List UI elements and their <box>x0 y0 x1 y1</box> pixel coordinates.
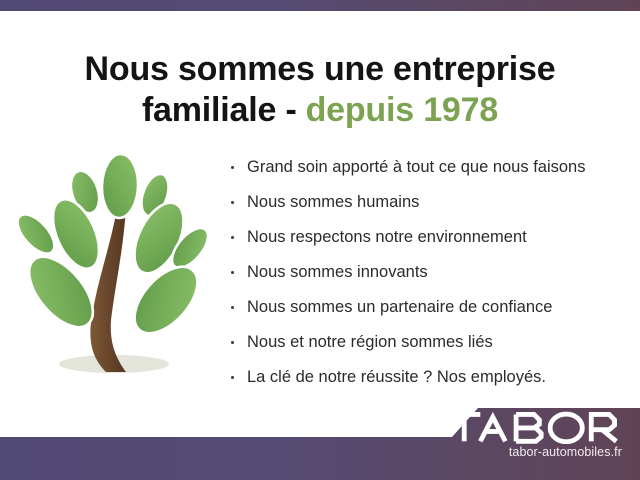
tree-illustration <box>14 152 214 390</box>
list-item: Nous sommes un partenaire de confiance <box>228 290 628 325</box>
headline-line-2-prefix: familiale - <box>142 91 297 129</box>
leaf <box>101 153 139 218</box>
bullet-dot-icon <box>231 341 234 344</box>
leaf <box>123 256 209 345</box>
list-item-label: Nous sommes un partenaire de confiance <box>247 298 552 316</box>
list-item: Nous et notre région sommes liés <box>228 325 628 360</box>
page-title: Nous sommes une entreprise familiale -de… <box>0 49 640 131</box>
list-item-label: Nous sommes innovants <box>247 263 428 281</box>
headline-line-2: familiale -depuis 1978 <box>0 90 640 131</box>
footer-url[interactable]: tabor-automobiles.fr <box>444 445 624 459</box>
list-item: Grand soin apporté à tout ce que nous fa… <box>228 150 628 185</box>
list-item-label: Nous sommes humains <box>247 193 419 211</box>
list-item-label: Grand soin apporté à tout ce que nous fa… <box>247 158 585 176</box>
bullet-dot-icon <box>231 376 234 379</box>
headline-accent-year: depuis 1978 <box>306 91 498 129</box>
bullet-dot-icon <box>231 166 234 169</box>
brand-logo[interactable]: tabor-automobiles.fr <box>444 410 624 459</box>
list-item: Nous respectons notre environnement <box>228 220 628 255</box>
bullet-dot-icon <box>231 271 234 274</box>
footer: tabor-automobiles.fr <box>0 400 640 480</box>
list-item-label: Nous et notre région sommes liés <box>247 333 493 351</box>
list-item-label: La clé de notre réussite ? Nos employés. <box>247 368 546 386</box>
tabor-wordmark-icon <box>444 410 624 444</box>
bullet-dot-icon <box>231 306 234 309</box>
bullet-dot-icon <box>231 201 234 204</box>
benefits-list: Grand soin apporté à tout ce que nous fa… <box>228 150 628 395</box>
list-item: La clé de notre réussite ? Nos employés. <box>228 360 628 395</box>
list-item: Nous sommes innovants <box>228 255 628 290</box>
list-item: Nous sommes humains <box>228 185 628 220</box>
top-accent-bar <box>0 0 640 11</box>
list-item-label: Nous respectons notre environnement <box>247 228 527 246</box>
bullet-dot-icon <box>231 236 234 239</box>
headline-line-1: Nous sommes une entreprise <box>85 50 556 88</box>
